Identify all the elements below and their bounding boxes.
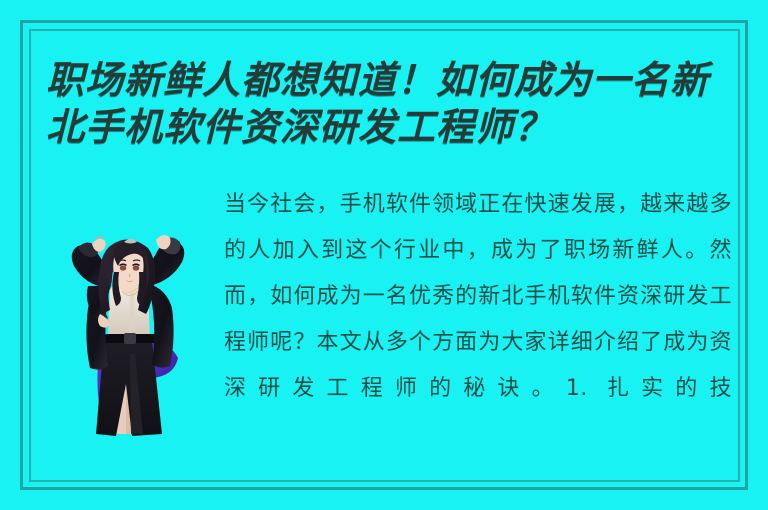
page-title-line-2: 北手机软件资深研发工程师？ (46, 105, 736, 152)
page-title-line-1: 职场新鲜人都想知道！如何成为一名新 (46, 58, 736, 105)
article-body-text: 当今社会，手机软件领域正在快速发展，越来越多的人加入到这个行业中，成为了职场新鲜… (224, 182, 732, 412)
anime-woman-illustration (48, 228, 208, 438)
article-body: 当今社会，手机软件领域正在快速发展，越来越多的人加入到这个行业中，成为了职场新鲜… (224, 182, 732, 412)
page-title: 职场新鲜人都想知道！如何成为一名新 北手机软件资深研发工程师？ (46, 58, 736, 152)
poster-canvas: 职场新鲜人都想知道！如何成为一名新 北手机软件资深研发工程师？ (0, 0, 768, 510)
